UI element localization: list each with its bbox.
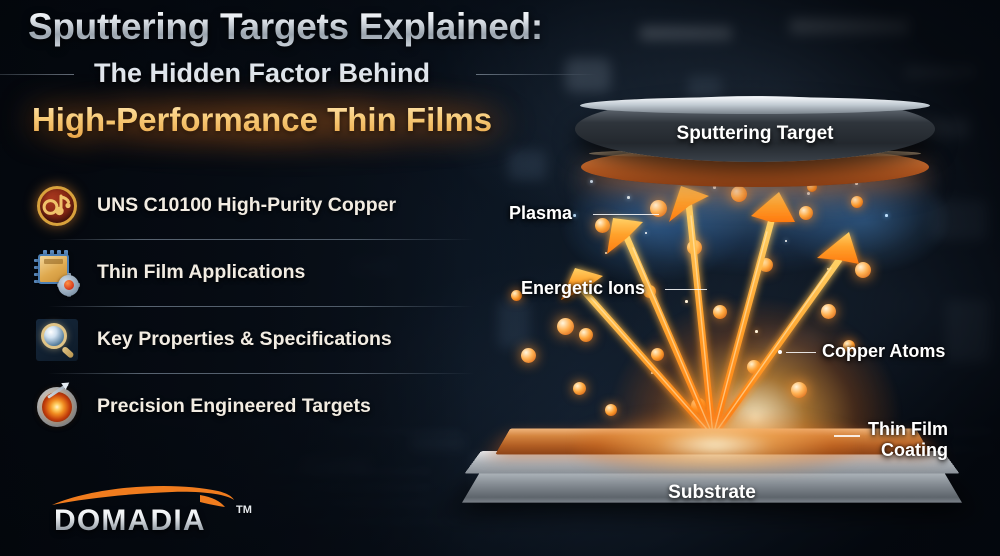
brand-logo[interactable]: DOMADIA TM [40, 482, 250, 538]
logo-wordmark: DOMADIA [54, 504, 206, 538]
callout-ions-leader [665, 289, 707, 291]
headline-rule-left [0, 74, 74, 75]
substrate-label: Substrate [473, 482, 951, 504]
feature-label: Thin Film Applications [97, 261, 305, 284]
magnifier-icon [34, 317, 80, 363]
callout-film-line2: Coating [868, 440, 948, 461]
infographic-canvas: Sputtering Targets Explained: The Hidden… [0, 0, 1000, 556]
feature-divider [48, 373, 474, 374]
callout-copper-atoms: Copper Atoms [822, 341, 945, 362]
callout-atoms-text: Copper Atoms [822, 341, 945, 361]
callout-plasma: Plasma [509, 203, 572, 224]
chip-gear-icon [34, 250, 80, 296]
feature-label: UNS C10100 High-Purity Copper [97, 194, 396, 217]
feature-item-applications[interactable]: Thin Film Applications [34, 239, 464, 306]
copper-badge-icon [34, 183, 80, 229]
feature-item-properties[interactable]: Key Properties & Specifications [34, 306, 464, 373]
feature-divider [48, 239, 474, 240]
headline-sub-text: The Hidden Factor Behind [94, 58, 430, 88]
callout-atoms-leader [786, 352, 816, 354]
callout-film-leader [834, 435, 860, 437]
callout-plasma-leader [593, 214, 659, 216]
callout-atoms-dot [778, 350, 782, 354]
sputtering-target-disc: Sputtering Target [575, 96, 935, 162]
callout-film-line1: Thin Film [868, 419, 948, 440]
callout-thin-film-coating: Thin Film Coating [868, 419, 948, 460]
feature-list: UNS C10100 High-Purity Copper Thin F [34, 172, 464, 440]
feature-item-precision[interactable]: Precision Engineered Targets [34, 373, 464, 440]
feature-divider [48, 306, 474, 307]
target-arrow-icon [34, 384, 80, 430]
logo-trademark: TM [236, 504, 252, 516]
feature-item-copper[interactable]: UNS C10100 High-Purity Copper [34, 172, 464, 239]
callout-plasma-text: Plasma [509, 203, 572, 223]
feature-label: Precision Engineered Targets [97, 395, 371, 418]
callout-energetic-ions: Energetic Ions [521, 278, 645, 299]
feature-label: Key Properties & Specifications [97, 328, 392, 351]
deposition-glow [575, 412, 855, 472]
sputtering-target-label: Sputtering Target [575, 123, 935, 145]
callout-ions-text: Energetic Ions [521, 278, 645, 298]
